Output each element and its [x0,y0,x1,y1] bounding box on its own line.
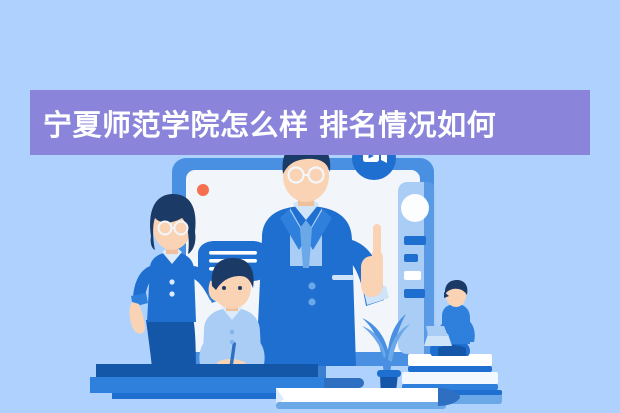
book-stack-lower [276,388,460,409]
sidebar-avatar [401,194,429,222]
sidebar-bar-3 [404,271,421,280]
sidebar-bar-2 [404,254,418,262]
record-indicator-dot [197,184,209,196]
page-title: 宁夏师范学院怎么样 排名情况如何 [43,102,496,144]
online-education-illustration [0,0,620,413]
sidebar-bar-1 [404,236,426,245]
pointing-finger [373,224,381,258]
article-cover-image: 宁夏师范学院怎么样 排名情况如何 [0,0,620,413]
title-banner: 宁夏师范学院怎么样 排名情况如何 [30,90,590,155]
sidebar-bar-4 [404,289,425,298]
